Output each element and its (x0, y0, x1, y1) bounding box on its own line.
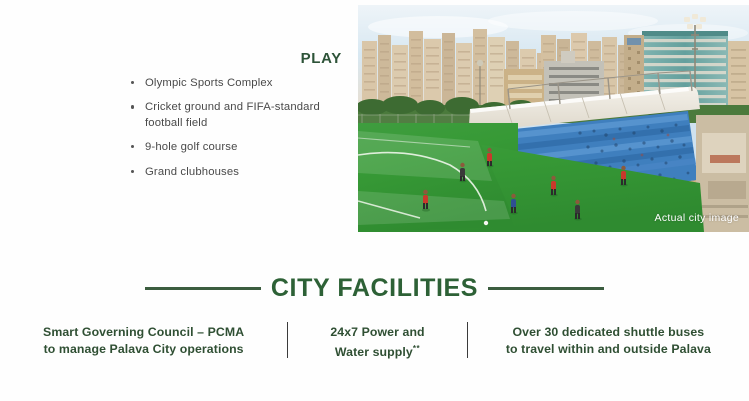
bullet-icon (131, 105, 134, 108)
facilities-heading-row: CITY FACILITIES (0, 274, 749, 303)
photo-caption: Actual city image (655, 212, 739, 224)
list-item: 9-hole golf course (131, 140, 348, 155)
facility-line-1: Smart Governing Council – PCMA (0, 324, 287, 341)
list-item-label: 9-hole golf course (145, 141, 238, 153)
list-item: Grand clubhouses (131, 165, 348, 180)
facility-item-governance: Smart Governing Council – PCMA to manage… (0, 322, 287, 357)
list-item: Olympic Sports Complex (131, 76, 348, 91)
heading-rule-left (145, 287, 261, 290)
facilities-columns: Smart Governing Council – PCMA to manage… (0, 322, 749, 364)
list-item-label: Olympic Sports Complex (145, 77, 273, 89)
facility-line-2-wrap: Water supply** (288, 341, 467, 361)
facility-line-1: 24x7 Power and (288, 324, 467, 341)
footnote-marker: ** (413, 344, 420, 353)
play-text-block: PLAY Olympic Sports Complex Cricket grou… (0, 50, 348, 189)
bullet-icon (131, 145, 134, 148)
page-title: CITY FACILITIES (271, 274, 478, 303)
bullet-icon (131, 170, 134, 173)
facility-line-2: to travel within and outside Palava (468, 341, 749, 358)
top-section: PLAY Olympic Sports Complex Cricket grou… (0, 0, 749, 245)
list-item: Cricket ground and FIFA-standard footbal… (131, 100, 348, 131)
play-feature-list: Olympic Sports Complex Cricket ground an… (0, 76, 348, 180)
facility-line-1: Over 30 dedicated shuttle buses (468, 324, 749, 341)
list-item-label: Grand clubhouses (145, 166, 239, 178)
facility-line-2: to manage Palava City operations (0, 341, 287, 358)
facility-line-2: Water supply (335, 345, 413, 359)
facility-item-shuttle-buses: Over 30 dedicated shuttle buses to trave… (468, 322, 749, 357)
list-item-label: Cricket ground and FIFA-standard footbal… (145, 101, 320, 128)
bullet-icon (131, 81, 134, 84)
play-heading: PLAY (0, 50, 348, 67)
facility-item-power-water: 24x7 Power and Water supply** (288, 322, 467, 360)
heading-rule-right (488, 287, 604, 290)
city-photo: Actual city image (358, 5, 749, 232)
city-photo-illustration (358, 5, 749, 232)
